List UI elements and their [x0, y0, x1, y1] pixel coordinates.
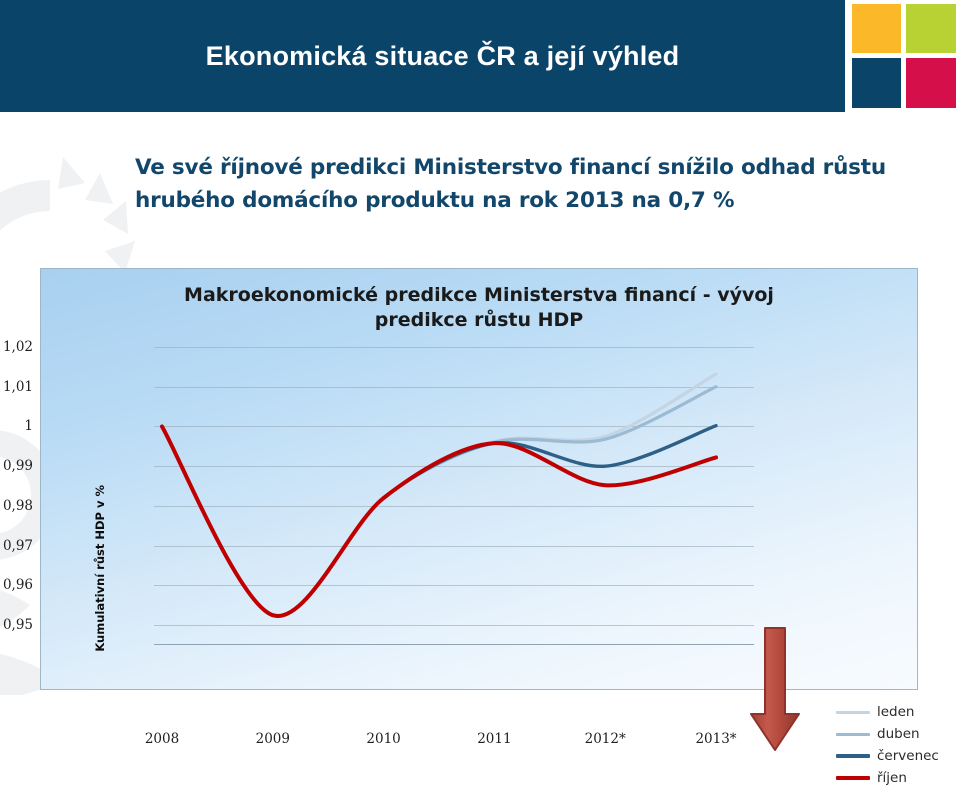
brand-swatch-crimson: [906, 58, 956, 108]
y-axis-tick-label: 0,97: [0, 538, 33, 554]
y-axis-tick-label: 1: [0, 418, 33, 434]
legend-item[interactable]: říjen: [836, 767, 939, 789]
y-axis-tick-label: 1,02: [0, 339, 33, 355]
x-axis-tick-label: 2011: [477, 731, 511, 747]
brand-swatch-navy: [852, 58, 901, 108]
x-axis-tick-label: 2013*: [695, 731, 736, 747]
chart-title: Makroekonomické predikce Ministerstva fi…: [41, 283, 917, 332]
legend-label-rijen: říjen: [877, 770, 907, 786]
legend-label-leden: leden: [877, 704, 915, 720]
plot-area: 1,021,0110,990,980,970,960,95 2008200920…: [154, 347, 754, 645]
legend-swatch-rijen: [836, 776, 870, 780]
legend-label-duben: duben: [877, 726, 920, 742]
series-line-leden: [162, 374, 716, 616]
legend-item[interactable]: červenec: [836, 745, 939, 767]
y-axis-tick-label: 0,96: [0, 577, 33, 593]
chart-title-line-2: predikce růstu HDP: [41, 308, 917, 333]
brand-swatch-amber: [852, 4, 901, 53]
legend-swatch-leden: [836, 711, 870, 714]
slide-subtitle: Ve své říjnové predikci Ministerstvo fin…: [135, 152, 895, 217]
y-axis-tick-label: 0,95: [0, 617, 33, 633]
chart-panel: Makroekonomické predikce Ministerstva fi…: [40, 268, 918, 690]
subtitle-line-1: Ve své říjnové predikci Ministerstvo fin…: [135, 152, 895, 185]
legend-label-cervenec: červenec: [877, 748, 939, 764]
slide-header-bar: Ekonomická situace ČR a její výhled: [0, 0, 845, 112]
legend-swatch-cervenec: [836, 754, 870, 757]
down-arrow-annotation: [747, 626, 803, 759]
page-title: Ekonomická situace ČR a její výhled: [206, 41, 680, 72]
legend-item[interactable]: duben: [836, 723, 939, 745]
y-axis-tick-label: 0,99: [0, 458, 33, 474]
chart-legend: leden duben červenec říjen: [836, 701, 939, 789]
x-axis-tick-label: 2009: [256, 731, 290, 747]
header-rail: [840, 0, 844, 112]
series-line-duben: [162, 387, 716, 616]
brand-swatch-lime: [906, 4, 956, 53]
series-lines: [154, 347, 754, 645]
legend-swatch-duben: [836, 733, 870, 736]
chart-title-line-1: Makroekonomické predikce Ministerstva fi…: [41, 283, 917, 308]
x-axis-tick-label: 2010: [366, 731, 400, 747]
y-axis-tick-label: 0,98: [0, 498, 33, 514]
subtitle-line-2: hrubého domácího produktu na rok 2013 na…: [135, 185, 895, 218]
brand-swatch-group: [848, 0, 960, 112]
y-axis-tick-label: 1,01: [0, 379, 33, 395]
series-line-říjen: [162, 426, 716, 616]
y-axis-title: Kumulativní růst HDP v %: [93, 485, 107, 652]
x-axis-tick-label: 2012*: [585, 731, 626, 747]
x-axis-tick-label: 2008: [145, 731, 179, 747]
